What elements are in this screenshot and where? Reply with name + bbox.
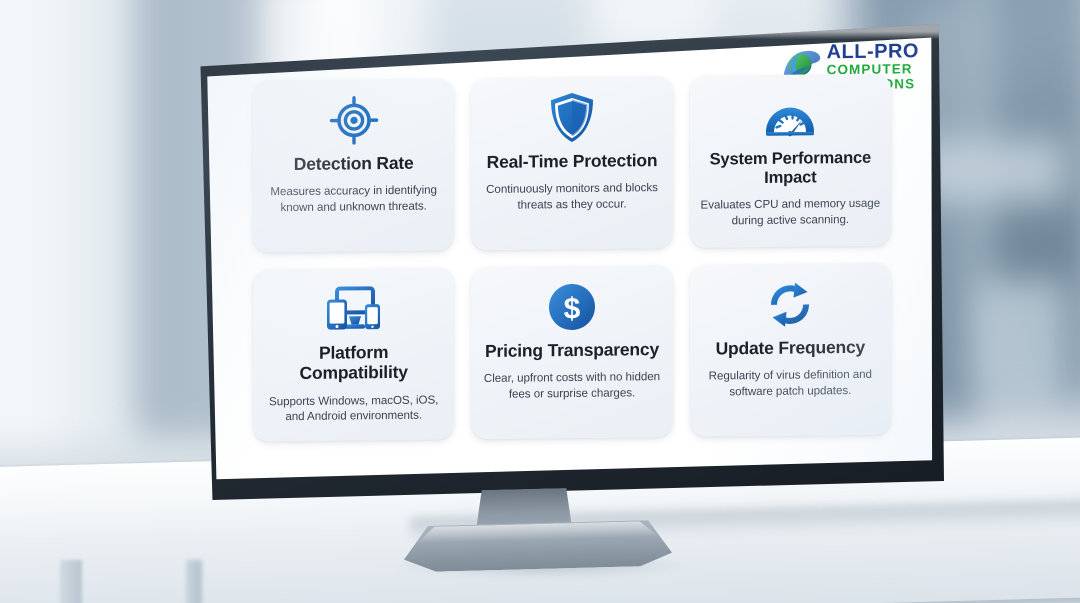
card-icon-wrap — [325, 282, 383, 337]
background-blob-right — [975, 280, 1065, 400]
card-real-time-protection[interactable]: Real-Time Protection Continuously monito… — [471, 76, 672, 250]
svg-text:$: $ — [564, 292, 581, 325]
card-title: Platform Compatibility — [263, 341, 444, 384]
card-title: Pricing Transparency — [485, 339, 659, 361]
monitor-screen: ALL-PRO COMPUTER SOLUTIONS — [204, 34, 935, 486]
logo-line-1: ALL-PRO — [827, 41, 919, 62]
refresh-cycle-icon — [764, 278, 816, 331]
card-title: Update Frequency — [716, 337, 865, 359]
card-title: Real-Time Protection — [487, 150, 658, 172]
card-detection-rate[interactable]: Detection Rate Measures accuracy in iden… — [253, 78, 454, 252]
card-description: Evaluates CPU and memory usage during ac… — [700, 196, 881, 229]
desk-leg-right — [186, 560, 202, 603]
card-platform-compatibility[interactable]: Platform Compatibility Supports Windows,… — [253, 267, 454, 441]
desk-leg-left — [60, 560, 82, 603]
shield-icon — [549, 92, 595, 144]
card-icon-wrap: $ — [547, 280, 597, 335]
scene: ALL-PRO COMPUTER SOLUTIONS — [0, 0, 1080, 603]
card-icon-wrap — [549, 91, 595, 145]
speedometer-gauge-icon — [762, 94, 818, 137]
card-description: Regularity of virus definition and softw… — [700, 367, 881, 400]
card-update-frequency[interactable]: Update Frequency Regularity of virus def… — [690, 263, 891, 437]
card-title: Detection Rate — [294, 153, 414, 175]
card-icon-wrap — [764, 277, 816, 332]
card-pricing-transparency[interactable]: $ Pricing Transparency Clear, upfront co… — [471, 265, 672, 439]
screen-content: ALL-PRO COMPUTER SOLUTIONS — [204, 34, 935, 486]
monitor: ALL-PRO COMPUTER SOLUTIONS — [196, 24, 944, 500]
card-description: Clear, upfront costs with no hidden fees… — [481, 369, 662, 402]
card-title: System Performance Impact — [700, 148, 881, 188]
target-crosshair-icon — [329, 95, 379, 146]
multi-device-icon — [325, 286, 383, 333]
card-description: Measures accuracy in identifying known a… — [263, 183, 444, 216]
dollar-circle-icon: $ — [547, 282, 597, 333]
card-description: Continuously monitors and blocks threats… — [481, 180, 662, 213]
card-description: Supports Windows, macOS, iOS, and Androi… — [263, 392, 444, 425]
card-icon-wrap — [329, 93, 379, 148]
card-icon-wrap — [762, 88, 818, 143]
background-window-left — [0, 0, 140, 450]
card-system-performance-impact[interactable]: System Performance Impact Evaluates CPU … — [690, 74, 891, 248]
feature-card-grid: Detection Rate Measures accuracy in iden… — [253, 74, 891, 442]
